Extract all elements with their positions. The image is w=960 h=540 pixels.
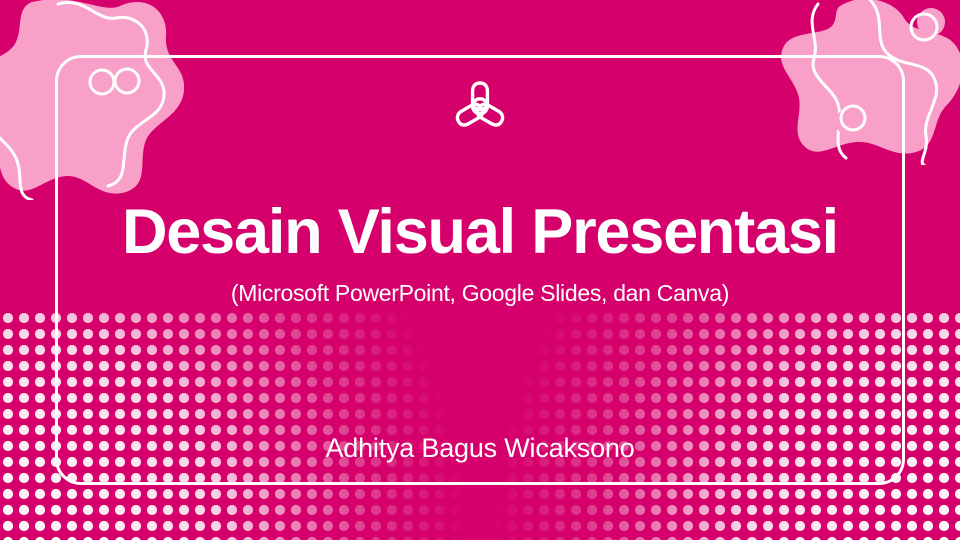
triskelion-propeller-icon [451,76,509,130]
title-block: Desain Visual Presentasi (Microsoft Powe… [0,200,960,307]
author-name: Adhitya Bagus Wicaksono [0,433,960,464]
presentation-title-slide: Desain Visual Presentasi (Microsoft Powe… [0,0,960,540]
bubble-circle-top-right [903,2,951,50]
page-title: Desain Visual Presentasi [0,200,960,264]
page-subtitle: (Microsoft PowerPoint, Google Slides, da… [0,280,960,307]
